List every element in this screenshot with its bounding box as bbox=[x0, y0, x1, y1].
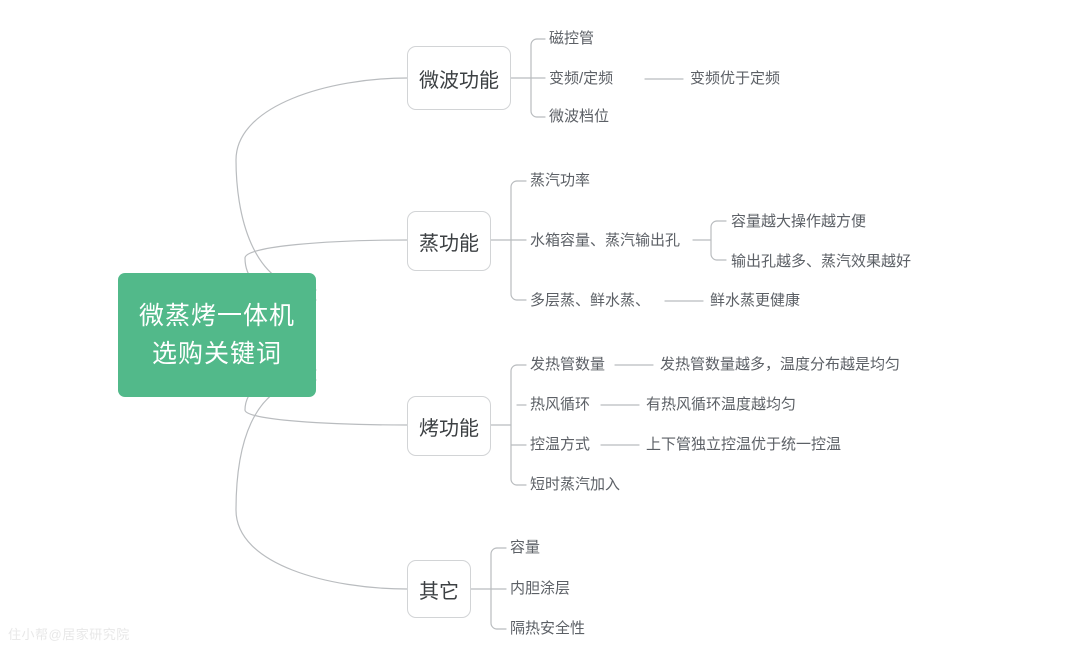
child-node-heating-tubes[interactable]: 发热管数量 bbox=[530, 356, 605, 374]
note-fresh-water-steam[interactable]: 鲜水蒸更健康 bbox=[710, 292, 800, 310]
branch-node-microwave[interactable]: 微波功能 bbox=[407, 46, 511, 110]
child-node-hot-air-circulation[interactable]: 热风循环 bbox=[530, 396, 590, 414]
note-outlet-count[interactable]: 输出孔越多、蒸汽效果越好 bbox=[731, 253, 911, 271]
child-node-insulation-safety[interactable]: 隔热安全性 bbox=[510, 620, 585, 638]
note-frequency-mode[interactable]: 变频优于定频 bbox=[690, 70, 780, 88]
bracket-branch-3 bbox=[511, 365, 517, 485]
child-node-steam-power[interactable]: 蒸汽功率 bbox=[530, 172, 590, 190]
watermark: 住小帮@居家研究院 bbox=[8, 624, 130, 643]
child-node-magnetron[interactable]: 磁控管 bbox=[549, 30, 594, 48]
branch-node-bake[interactable]: 烤功能 bbox=[407, 396, 491, 456]
root-title-line-1: 微蒸烤一体机 bbox=[139, 297, 295, 335]
bracket-branch-4 bbox=[491, 548, 497, 629]
branch-node-other[interactable]: 其它 bbox=[407, 560, 471, 618]
link-root-to-branch-4 bbox=[236, 380, 407, 589]
root-node[interactable]: 微蒸烤一体机 选购关键词 bbox=[118, 273, 316, 397]
note-temp-control[interactable]: 上下管独立控温优于统一控温 bbox=[646, 436, 841, 454]
child-node-frequency-mode[interactable]: 变频/定频 bbox=[549, 70, 613, 88]
child-node-temp-control[interactable]: 控温方式 bbox=[530, 436, 590, 454]
note-tank-capacity[interactable]: 容量越大操作越方便 bbox=[731, 213, 866, 231]
child-node-short-steam[interactable]: 短时蒸汽加入 bbox=[530, 476, 620, 494]
note-hot-air-circulation[interactable]: 有热风循环温度越均匀 bbox=[646, 396, 796, 414]
root-title-line-2: 选购关键词 bbox=[152, 335, 282, 373]
child-node-microwave-levels[interactable]: 微波档位 bbox=[549, 108, 609, 126]
bracket-branch-2 bbox=[511, 181, 517, 300]
bracket-branch-1 bbox=[531, 39, 537, 117]
child-node-liner-coating[interactable]: 内胆涂层 bbox=[510, 580, 570, 598]
bracket-child-2-2 bbox=[711, 221, 717, 260]
note-heating-tubes[interactable]: 发热管数量越多，温度分布越是均匀 bbox=[660, 356, 900, 374]
child-node-capacity[interactable]: 容量 bbox=[510, 539, 540, 557]
child-node-multilayer-steam[interactable]: 多层蒸、鲜水蒸、 bbox=[530, 292, 650, 310]
branch-node-steam[interactable]: 蒸功能 bbox=[407, 211, 491, 271]
mindmap-canvas: 微蒸烤一体机 选购关键词 微波功能 磁控管 变频/定频 变频优于定频 微波档位 … bbox=[0, 0, 1080, 658]
link-root-to-branch-1 bbox=[236, 78, 407, 290]
child-node-tank-and-outlets[interactable]: 水箱容量、蒸汽输出孔 bbox=[530, 232, 680, 250]
